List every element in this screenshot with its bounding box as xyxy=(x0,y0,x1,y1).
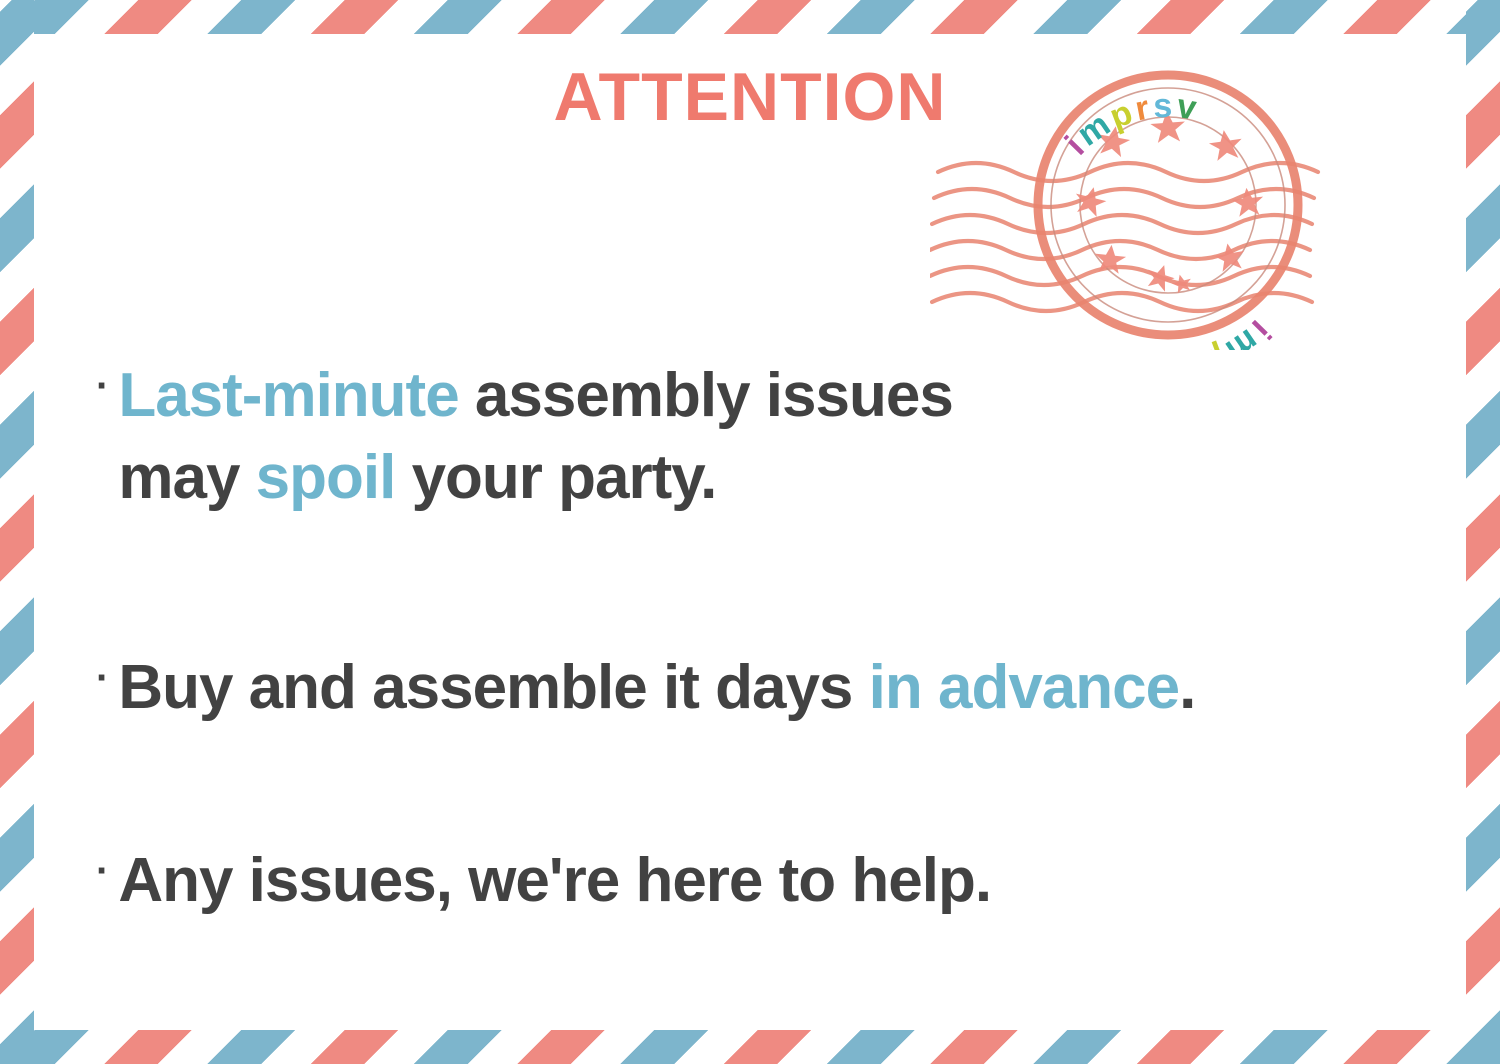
bullet-marker: · xyxy=(96,355,108,417)
bullet-span: your party. xyxy=(395,443,716,512)
bullet-list: · Last-minute assembly issues may spoil … xyxy=(96,355,1440,922)
border-stripe-top xyxy=(0,0,1500,34)
attention-card: ATTENTION xyxy=(0,0,1500,1064)
bullet-span: may xyxy=(118,443,255,512)
bullet-text: Buy and assemble it days in advance. xyxy=(118,647,1440,729)
bullet-text: Last-minute assembly issues may spoil yo… xyxy=(118,355,1440,519)
bullet-span: in advance xyxy=(869,653,1179,722)
bullet-text: Any issues, we're here to help. xyxy=(118,840,1440,922)
postmark-brand-top: imprsv xyxy=(1058,87,1202,163)
border-stripe-left xyxy=(0,0,34,1064)
bullet-marker: · xyxy=(96,647,108,709)
bullet-span: assembly issues xyxy=(459,361,953,430)
list-item: · Any issues, we're here to help. xyxy=(96,840,1440,922)
bullet-span: . xyxy=(1179,653,1195,722)
list-item: · Buy and assemble it days in advance. xyxy=(96,647,1440,729)
list-item: · Last-minute assembly issues may spoil … xyxy=(96,355,1440,519)
bullet-marker: · xyxy=(96,840,108,902)
bullet-span: Any issues, we're here to help. xyxy=(118,846,991,915)
svg-text:imprsv: imprsv xyxy=(1058,87,1202,163)
border-stripe-right xyxy=(1466,0,1500,1064)
cancellation-lines xyxy=(930,163,1318,311)
bullet-span: Buy and assemble it days xyxy=(118,653,868,722)
border-stripe-bottom xyxy=(0,1030,1500,1064)
postmark-stamp: imprsv imprsv xyxy=(930,60,1410,350)
bullet-span: Last-minute xyxy=(118,361,458,430)
bullet-span: spoil xyxy=(256,443,396,512)
